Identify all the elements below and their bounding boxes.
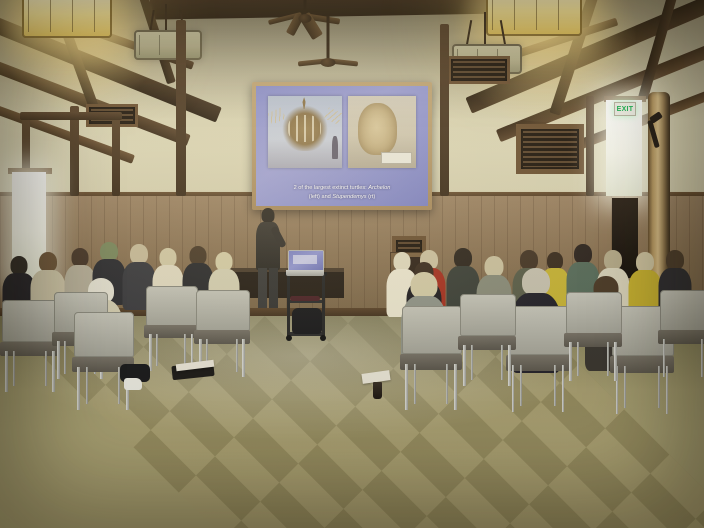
chair-leg bbox=[562, 365, 565, 412]
cables-on-cart bbox=[290, 296, 320, 301]
pendant-light-right-lit bbox=[486, 0, 578, 34]
chair-leg bbox=[624, 366, 626, 408]
chair-back bbox=[566, 292, 622, 334]
pendant-chain bbox=[165, 4, 167, 30]
shoe-on-floor bbox=[124, 378, 142, 390]
chair-leg bbox=[236, 339, 238, 373]
chair-leg bbox=[405, 364, 408, 410]
chair-leg bbox=[454, 364, 457, 410]
chair-leg bbox=[13, 351, 15, 386]
chair-leg bbox=[184, 334, 186, 367]
av-cart-leg bbox=[287, 274, 290, 336]
caption-text-3: (rt) bbox=[367, 194, 376, 200]
wall-header-left bbox=[20, 112, 122, 120]
av-cart-leg bbox=[322, 274, 325, 336]
presenter-head bbox=[262, 208, 275, 223]
av-cart-caster bbox=[320, 335, 326, 341]
audience-head-grey-hair bbox=[522, 268, 550, 296]
exit-sign: EXIT bbox=[614, 102, 636, 116]
pendant-shade bbox=[486, 0, 582, 36]
chair-seat bbox=[506, 355, 571, 371]
pendant-shade bbox=[134, 30, 202, 60]
folding-chair-empty[interactable] bbox=[660, 290, 704, 374]
ceiling-fan-front bbox=[296, 16, 360, 82]
audience-head bbox=[130, 244, 148, 264]
chair-leg bbox=[5, 351, 8, 391]
chair-leg bbox=[414, 364, 416, 404]
slide-photo-stupendemys bbox=[348, 96, 416, 168]
slide-caption: 2 of the largest extinct turtles: Archel… bbox=[256, 184, 428, 201]
wall-post-left-3 bbox=[112, 112, 120, 196]
pendant-light-left-dim bbox=[134, 28, 198, 68]
slide-caption-line2: (left) and Stupendemys (rt) bbox=[256, 193, 428, 201]
chair-leg bbox=[569, 342, 572, 382]
audience-head bbox=[604, 250, 622, 270]
caption-text-1: 2 of the largest extinct turtles: bbox=[294, 185, 369, 191]
audience-head bbox=[485, 256, 504, 277]
av-cart-caster bbox=[286, 335, 292, 341]
chair-leg bbox=[554, 365, 556, 406]
chair-leg bbox=[45, 351, 47, 386]
chair-leg bbox=[64, 341, 66, 375]
folding-chair[interactable] bbox=[74, 312, 132, 406]
lecture-hall-photo: EXIT 2 of the largest extinct turtles: A… bbox=[0, 0, 704, 528]
folding-chair-empty[interactable] bbox=[508, 306, 568, 408]
pendant-light-left-lit bbox=[22, 0, 108, 34]
chair-leg bbox=[156, 334, 158, 367]
chair-leg bbox=[501, 345, 503, 380]
chair-leg bbox=[663, 339, 666, 378]
audience-head bbox=[411, 272, 438, 299]
chair-leg bbox=[508, 345, 511, 385]
presenter-leg-right bbox=[269, 268, 278, 308]
chair-back bbox=[196, 290, 250, 331]
chair-leg bbox=[446, 364, 448, 404]
wall-vent-right bbox=[516, 124, 584, 174]
chair-leg bbox=[701, 339, 704, 378]
folding-chair-empty[interactable] bbox=[566, 292, 620, 378]
wall-post-center-right bbox=[440, 24, 449, 196]
skeleton-ribs bbox=[288, 115, 321, 143]
chair-leg bbox=[607, 342, 609, 376]
backpack-on-cart bbox=[292, 308, 322, 334]
chair-leg bbox=[77, 367, 80, 410]
fan-hub bbox=[321, 58, 336, 67]
laptop-screen bbox=[289, 251, 323, 271]
audience-head bbox=[636, 252, 654, 272]
presenter-laptop[interactable] bbox=[288, 250, 322, 276]
presenter-leg-left bbox=[258, 268, 267, 308]
audience-head bbox=[39, 252, 57, 272]
chair-leg bbox=[520, 365, 522, 406]
pendant-chain bbox=[484, 12, 486, 44]
wall-post-right-1 bbox=[586, 96, 594, 196]
chair-back bbox=[660, 290, 704, 331]
chair-leg bbox=[57, 341, 60, 380]
slide-photo-archelon bbox=[268, 96, 342, 168]
chair-leg bbox=[242, 339, 245, 378]
wall-post-center-left bbox=[176, 20, 186, 196]
projection-screen: 2 of the largest extinct turtles: Archel… bbox=[256, 86, 428, 206]
coffee-cup-on-floor[interactable] bbox=[373, 382, 382, 399]
laptop-base bbox=[286, 270, 325, 276]
chair-back bbox=[460, 294, 516, 336]
wall-vent-upper-right bbox=[448, 56, 510, 84]
caption-text-2: (left) and bbox=[309, 194, 333, 200]
folding-chair-empty[interactable] bbox=[402, 306, 460, 406]
chair-leg bbox=[463, 345, 466, 385]
folding-chair-empty[interactable] bbox=[460, 294, 514, 382]
laptop-lid bbox=[288, 250, 324, 272]
audience-head bbox=[454, 248, 472, 268]
chair-leg bbox=[614, 342, 617, 382]
archelon-skeleton bbox=[282, 105, 328, 151]
chair-leg bbox=[577, 342, 579, 376]
chair-back bbox=[508, 306, 570, 355]
chair-back bbox=[146, 286, 198, 326]
folding-chair[interactable] bbox=[2, 300, 58, 388]
chair-leg bbox=[86, 367, 88, 405]
audience-head bbox=[666, 250, 684, 270]
museum-placard bbox=[381, 152, 412, 164]
chair-back bbox=[402, 306, 462, 354]
fan-downrod bbox=[327, 16, 330, 60]
projection-screen-frame: 2 of the largest extinct turtles: Archel… bbox=[252, 82, 432, 210]
folding-chair[interactable] bbox=[146, 286, 196, 368]
caption-species-stupendemys: Stupendemys bbox=[332, 194, 366, 200]
presenter bbox=[255, 208, 281, 304]
person-for-scale bbox=[332, 136, 338, 159]
caption-species-archelon: Archelon bbox=[368, 185, 390, 191]
stupendemys-carapace bbox=[358, 103, 397, 155]
chair-leg bbox=[471, 345, 473, 380]
exit-sign-label: EXIT bbox=[617, 106, 634, 113]
audience-head bbox=[520, 250, 538, 270]
chair-seat bbox=[400, 354, 463, 370]
audience-head bbox=[574, 244, 592, 264]
chair-back bbox=[74, 312, 134, 357]
pendant-shade bbox=[22, 0, 112, 38]
slide-caption-line1: 2 of the largest extinct turtles: Archel… bbox=[256, 184, 428, 192]
